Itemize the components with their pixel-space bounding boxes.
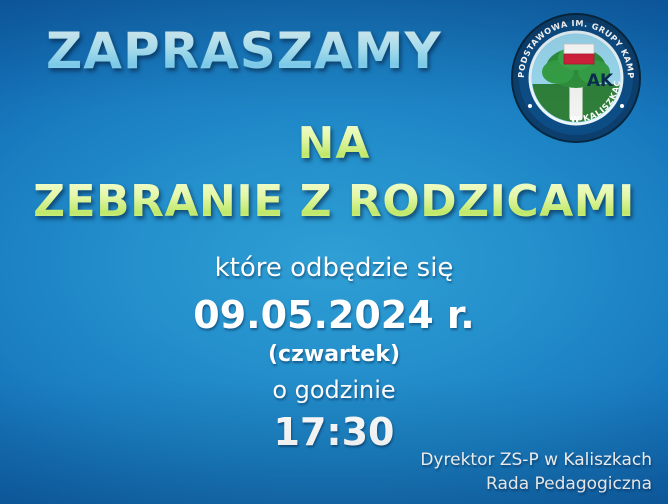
meeting-weekday: (czwartek) [0,342,668,367]
headline-zapraszamy: ZAPRASZAMY [46,22,442,80]
signature-director: Dyrektor ZS-P w Kaliszkach [420,448,652,472]
time-label: o godzinie [0,376,668,404]
meeting-date: 09.05.2024 r. [0,293,668,337]
signature-council: Rada Pedagogiczna [420,472,652,496]
svg-text:AK: AK [587,71,614,91]
poster-canvas: ZAPRASZAMY NA ZEBRANIE Z RODZICAMI które… [0,0,668,504]
headline-zebranie-z-rodzicami: ZEBRANIE Z RODZICAMI [0,176,668,227]
signature-block: Dyrektor ZS-P w Kaliszkach Rada Pedagogi… [420,448,652,496]
intro-line: które odbędzie się [0,253,668,283]
school-logo: AK SZKOŁA PODSTAWOWA IM. GRUPY KAMPINOS … [508,10,644,146]
